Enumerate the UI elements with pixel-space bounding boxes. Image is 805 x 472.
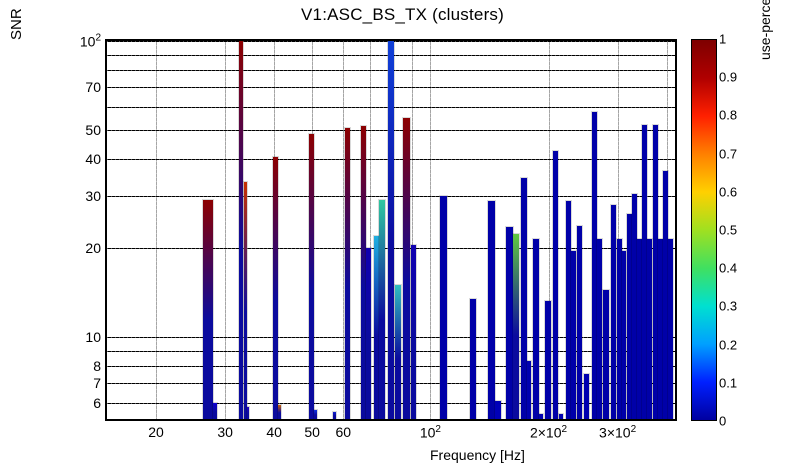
bar (488, 201, 495, 419)
y-tick-label: 70 (85, 79, 101, 95)
bar (553, 151, 559, 419)
bar (411, 245, 417, 419)
y-tick-label: 102 (80, 33, 101, 50)
y-tick-label: 20 (85, 240, 101, 256)
plot-area (105, 39, 677, 421)
bar (559, 414, 564, 419)
chart-canvas: V1:ASC_BS_TX (clusters) SNR 678102030405… (0, 0, 805, 472)
colorbar-tick-label: 0.9 (719, 70, 737, 85)
bar (584, 374, 590, 419)
bar (440, 196, 446, 419)
bar (314, 410, 317, 419)
colorbar-tick-label: 0.4 (719, 261, 737, 276)
bar (309, 134, 314, 419)
bar (527, 361, 532, 419)
y-tick-label: 6 (93, 395, 101, 411)
colorbar-tick-label: 0.3 (719, 299, 737, 314)
y-tick-label: 8 (93, 358, 101, 374)
bar (470, 299, 477, 419)
bar (379, 200, 385, 419)
bar (244, 182, 247, 419)
bar (403, 118, 410, 419)
bar (577, 226, 583, 419)
y-tick-label: 30 (85, 188, 101, 204)
bar (545, 301, 551, 419)
colorbar-tick-label: 0.7 (719, 146, 737, 161)
bar (388, 41, 394, 419)
colorbar-tick-label: 0.8 (719, 108, 737, 123)
colorbar-ticks: 00.10.20.30.40.50.60.70.80.91 (719, 39, 753, 421)
x-axis-label: Frequency [Hz] (430, 447, 525, 463)
x-tick-label: 60 (336, 424, 352, 440)
colorbar-tick-label: 0 (719, 414, 726, 429)
y-axis-ticks: 678102030405070102 (55, 39, 101, 421)
x-tick-label: 2×102 (530, 424, 567, 441)
bar (539, 414, 544, 419)
bar (203, 200, 213, 419)
colorbar-label: use-percentage (757, 0, 773, 60)
x-tick-label: 3×102 (599, 424, 636, 441)
y-tick-label: 50 (85, 122, 101, 138)
bar (345, 128, 351, 419)
colorbar-tick-label: 0.1 (719, 375, 737, 390)
bar (247, 407, 250, 419)
x-tick-label: 40 (266, 424, 282, 440)
bar (213, 403, 217, 419)
bar (395, 285, 401, 419)
colorbar-tick-label: 0.6 (719, 184, 737, 199)
bar (333, 412, 336, 419)
x-tick-label: 30 (217, 424, 233, 440)
bar (273, 157, 279, 419)
bar (668, 239, 673, 419)
y-tick-label: 10 (85, 329, 101, 345)
bar (495, 401, 501, 419)
y-axis-label-text: SNR (8, 8, 25, 40)
bar (513, 234, 519, 419)
x-axis-ticks: 20304050601022×1023×102 (105, 424, 677, 446)
colorbar (691, 39, 717, 421)
bar (278, 405, 281, 419)
bar (366, 248, 371, 419)
bar-series (107, 41, 675, 419)
bar (571, 251, 576, 419)
colorbar-tick-label: 0.5 (719, 223, 737, 238)
y-tick-label: 40 (85, 151, 101, 167)
bar (533, 239, 539, 419)
x-tick-label: 20 (148, 424, 164, 440)
chart-title: V1:ASC_BS_TX (clusters) (0, 5, 805, 25)
x-tick-label: 50 (304, 424, 320, 440)
y-tick-label: 7 (93, 375, 101, 391)
x-tick-label: 102 (420, 424, 441, 441)
bar (597, 239, 602, 419)
colorbar-tick-label: 0.2 (719, 337, 737, 352)
bar (603, 290, 609, 420)
y-axis-label: SNR (8, 8, 25, 40)
colorbar-tick-label: 1 (719, 32, 726, 47)
